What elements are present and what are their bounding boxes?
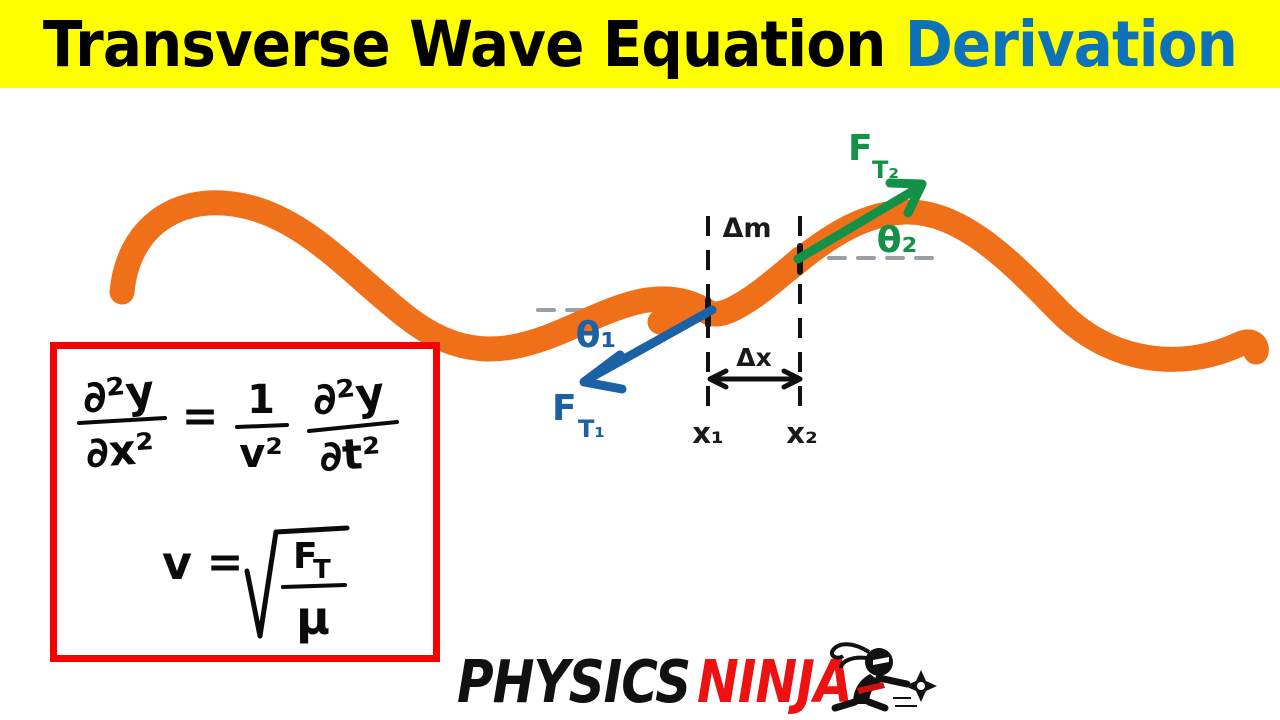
formula-box: ∂²y ∂x² = 1 v² ∂²y ∂t² v = F T μ [50,342,440,662]
physics-ninja-logo: PHYSICS NINJA [455,636,945,720]
eq2-lhs: v [162,536,192,590]
delta-x-arrow [710,371,800,387]
eq2-equals: = [207,537,244,588]
force-t2-main: F [848,128,873,169]
eq2-radicand-denominator: μ [296,591,330,645]
eq1-equals: = [182,391,219,442]
eq1-numerator-right: ∂²y [310,367,387,425]
logo-text-physics: PHYSICS [457,647,690,716]
delta-x-label: Δx [736,343,771,372]
eq1-denominator-mid: v² [239,431,283,477]
eq1-denominator-left: ∂x² [84,424,156,478]
eq1-denominator-right: ∂t² [318,428,383,481]
eq1-numerator-left: ∂²y [80,365,157,423]
logo-text-ninja: NINJA [697,647,852,716]
force-t2-sub: T₂ [872,156,899,184]
eq1-fraction-bar-mid [237,425,287,427]
theta-1-label: θ₁ [576,315,617,356]
force-t1-label: F T₁ [552,388,605,443]
transverse-wave [122,203,1256,360]
eq2-fraction-bar [283,585,345,587]
logo-svg: PHYSICS NINJA [455,636,945,720]
force-t1-main: F [552,388,577,429]
formula-svg: ∂²y ∂x² = 1 v² ∂²y ∂t² v = F T μ [57,349,433,655]
delta-m-label: Δm [722,213,771,244]
x2-label: x₂ [786,416,817,450]
x1-label: x₁ [692,416,723,450]
slide-canvas: Transverse Wave Equation Derivation [0,0,1280,720]
theta-2-label: θ₂ [877,220,918,261]
force-t1-sub: T₁ [578,415,605,443]
eq1-numerator-mid: 1 [247,377,275,423]
eq2-radicand-numerator-sub: T [313,555,331,585]
force-t2-label: F T₂ [848,128,899,184]
